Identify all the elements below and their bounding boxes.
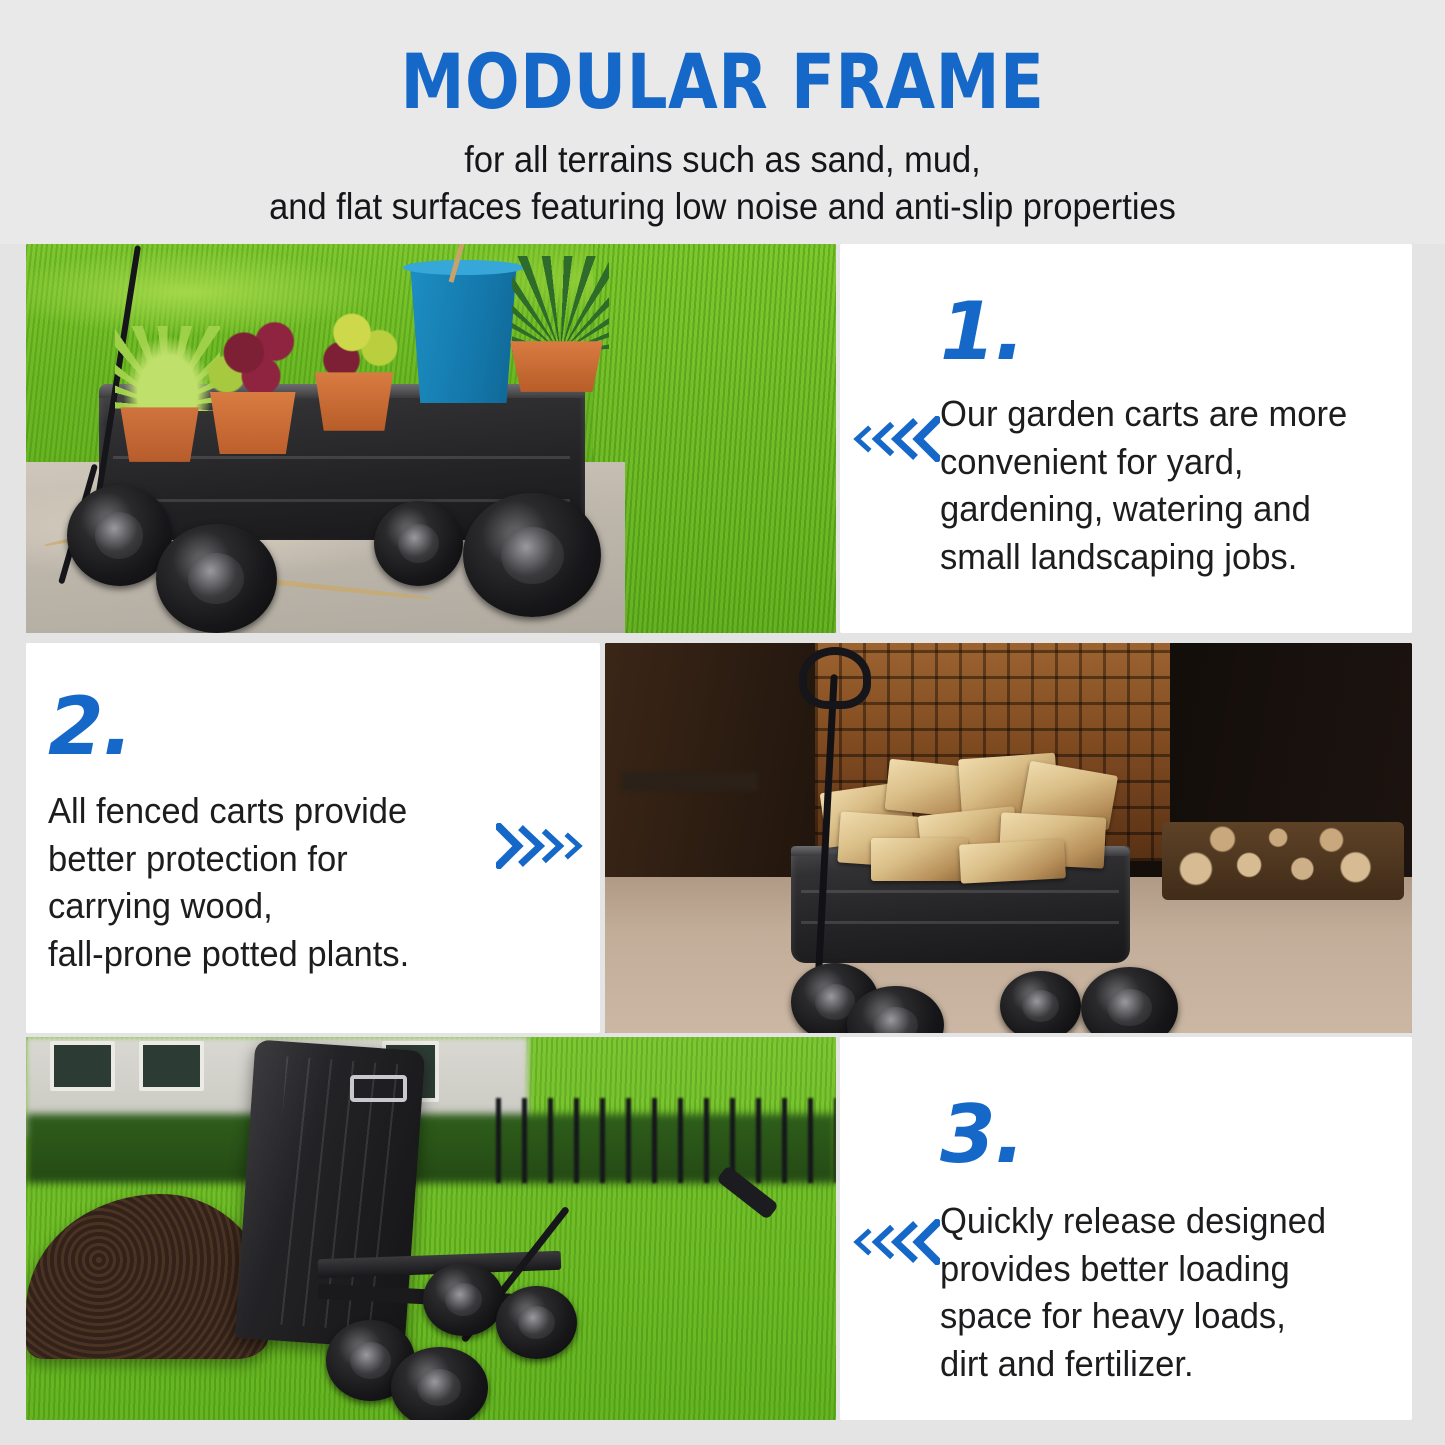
photo-1-pot	[204, 392, 301, 454]
chevron-left-icon	[848, 416, 940, 462]
photo-2-firewood	[959, 839, 1066, 883]
header-subtitle: for all terrains such as sand, mud, and …	[51, 136, 1395, 231]
feature-2-body: All fenced carts provide better protecti…	[48, 787, 499, 977]
photo-1-wheel-rear-inner	[374, 501, 463, 587]
photo-1-wheel-rear	[463, 493, 601, 617]
feature-1-number: 1.	[940, 296, 1412, 368]
chevron-left-icon	[848, 1219, 940, 1265]
photo-1-blue-bucket	[407, 263, 520, 403]
photo-3-wheel-rear-right	[496, 1286, 577, 1359]
photo-1-bucket-rim	[403, 260, 525, 276]
feature-1-text-panel: 1. Our garden carts are more convenient …	[840, 244, 1412, 633]
feature-1-text-block: 1. Our garden carts are more convenient …	[940, 296, 1412, 580]
photo-3-fence	[496, 1098, 836, 1182]
feature-3-body: Quickly release designed provides better…	[940, 1197, 1401, 1387]
photo-2-bench	[621, 772, 758, 792]
feature-1-photo	[26, 244, 836, 633]
chevron-right-icon	[496, 823, 588, 869]
feature-3-text-block: 3. Quickly release designed provides bet…	[940, 1099, 1412, 1387]
feature-3-number: 3.	[940, 1099, 1412, 1171]
header-subtitle-line-2: and flat surfaces featuring low noise an…	[51, 183, 1395, 230]
photo-2-firewood	[871, 838, 968, 881]
feature-2-photo	[605, 643, 1412, 1033]
photo-1-plant-rosemary	[512, 256, 609, 353]
tub-rib	[801, 890, 1120, 893]
photo-2-handle-grip-icon	[799, 647, 872, 709]
photo-3-wheel-front-right	[391, 1347, 488, 1420]
feature-2-text-panel: 2. All fenced carts provide better prote…	[26, 643, 600, 1033]
photo-3-window	[50, 1041, 115, 1091]
feature-3-photo	[26, 1037, 836, 1420]
photo-1-pot	[310, 372, 399, 430]
photo-2-log-stack	[1162, 822, 1404, 900]
photo-1-plant-coleus	[204, 314, 317, 400]
photo-3-window	[139, 1041, 204, 1091]
header-subtitle-line-1: for all terrains such as sand, mud,	[51, 136, 1395, 183]
tub-rib	[801, 921, 1120, 924]
feature-1-body: Our garden carts are more convenient for…	[940, 390, 1401, 580]
header-banner: MODULAR FRAME for all terrains such as s…	[0, 0, 1445, 244]
photo-3-wheel-rear-left	[423, 1263, 504, 1336]
photo-2-door-frame	[605, 643, 815, 885]
feature-3-text-panel: 3. Quickly release designed provides bet…	[840, 1037, 1412, 1420]
photo-1-pot	[115, 407, 204, 461]
photo-1-plant-coleus-2	[310, 298, 415, 384]
photo-1-wheel-mid	[156, 524, 278, 633]
feature-2-number: 2.	[48, 691, 518, 763]
page-title: MODULAR FRAME	[43, 42, 1401, 122]
photo-1-lawn-right	[593, 244, 836, 633]
feature-2-text-block: 2. All fenced carts provide better prote…	[48, 691, 518, 977]
photo-1-pot	[504, 341, 609, 392]
photo-3-latch-icon	[350, 1075, 407, 1102]
